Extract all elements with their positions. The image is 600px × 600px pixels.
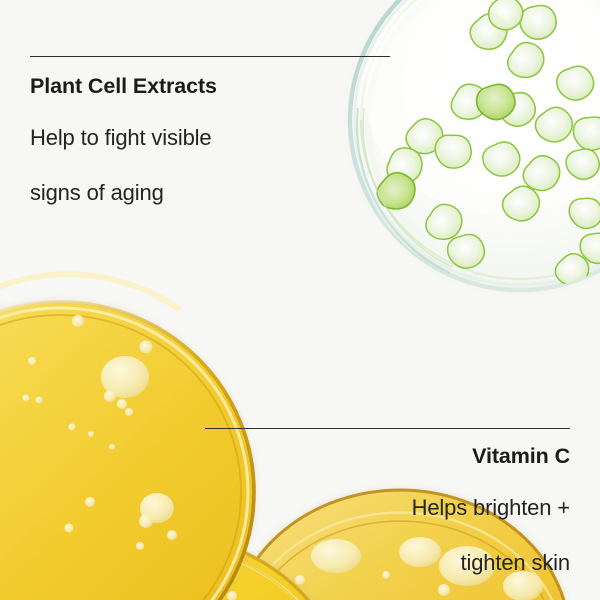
panel-plant-cell-extracts: Plant Cell Extracts Help to fight visibl… [30,74,370,231]
panel-body-line-2: tighten skin [230,546,570,579]
panel-vitamin-c: Vitamin C Helps brighten + tighten skin [230,444,570,600]
divider-line-top [30,56,390,57]
panel-heading-vitamin-c: Vitamin C [230,444,570,469]
panel-body-line-1: Helps brighten + [230,491,570,524]
panel-body-line-1: Help to fight visible [30,121,370,154]
panel-body-line-2: signs of aging [30,176,370,209]
panel-heading-plant-cell-extracts: Plant Cell Extracts [30,74,370,99]
product-ingredient-infographic: Plant Cell Extracts Help to fight visibl… [0,0,600,600]
divider-line-bottom [205,428,570,429]
